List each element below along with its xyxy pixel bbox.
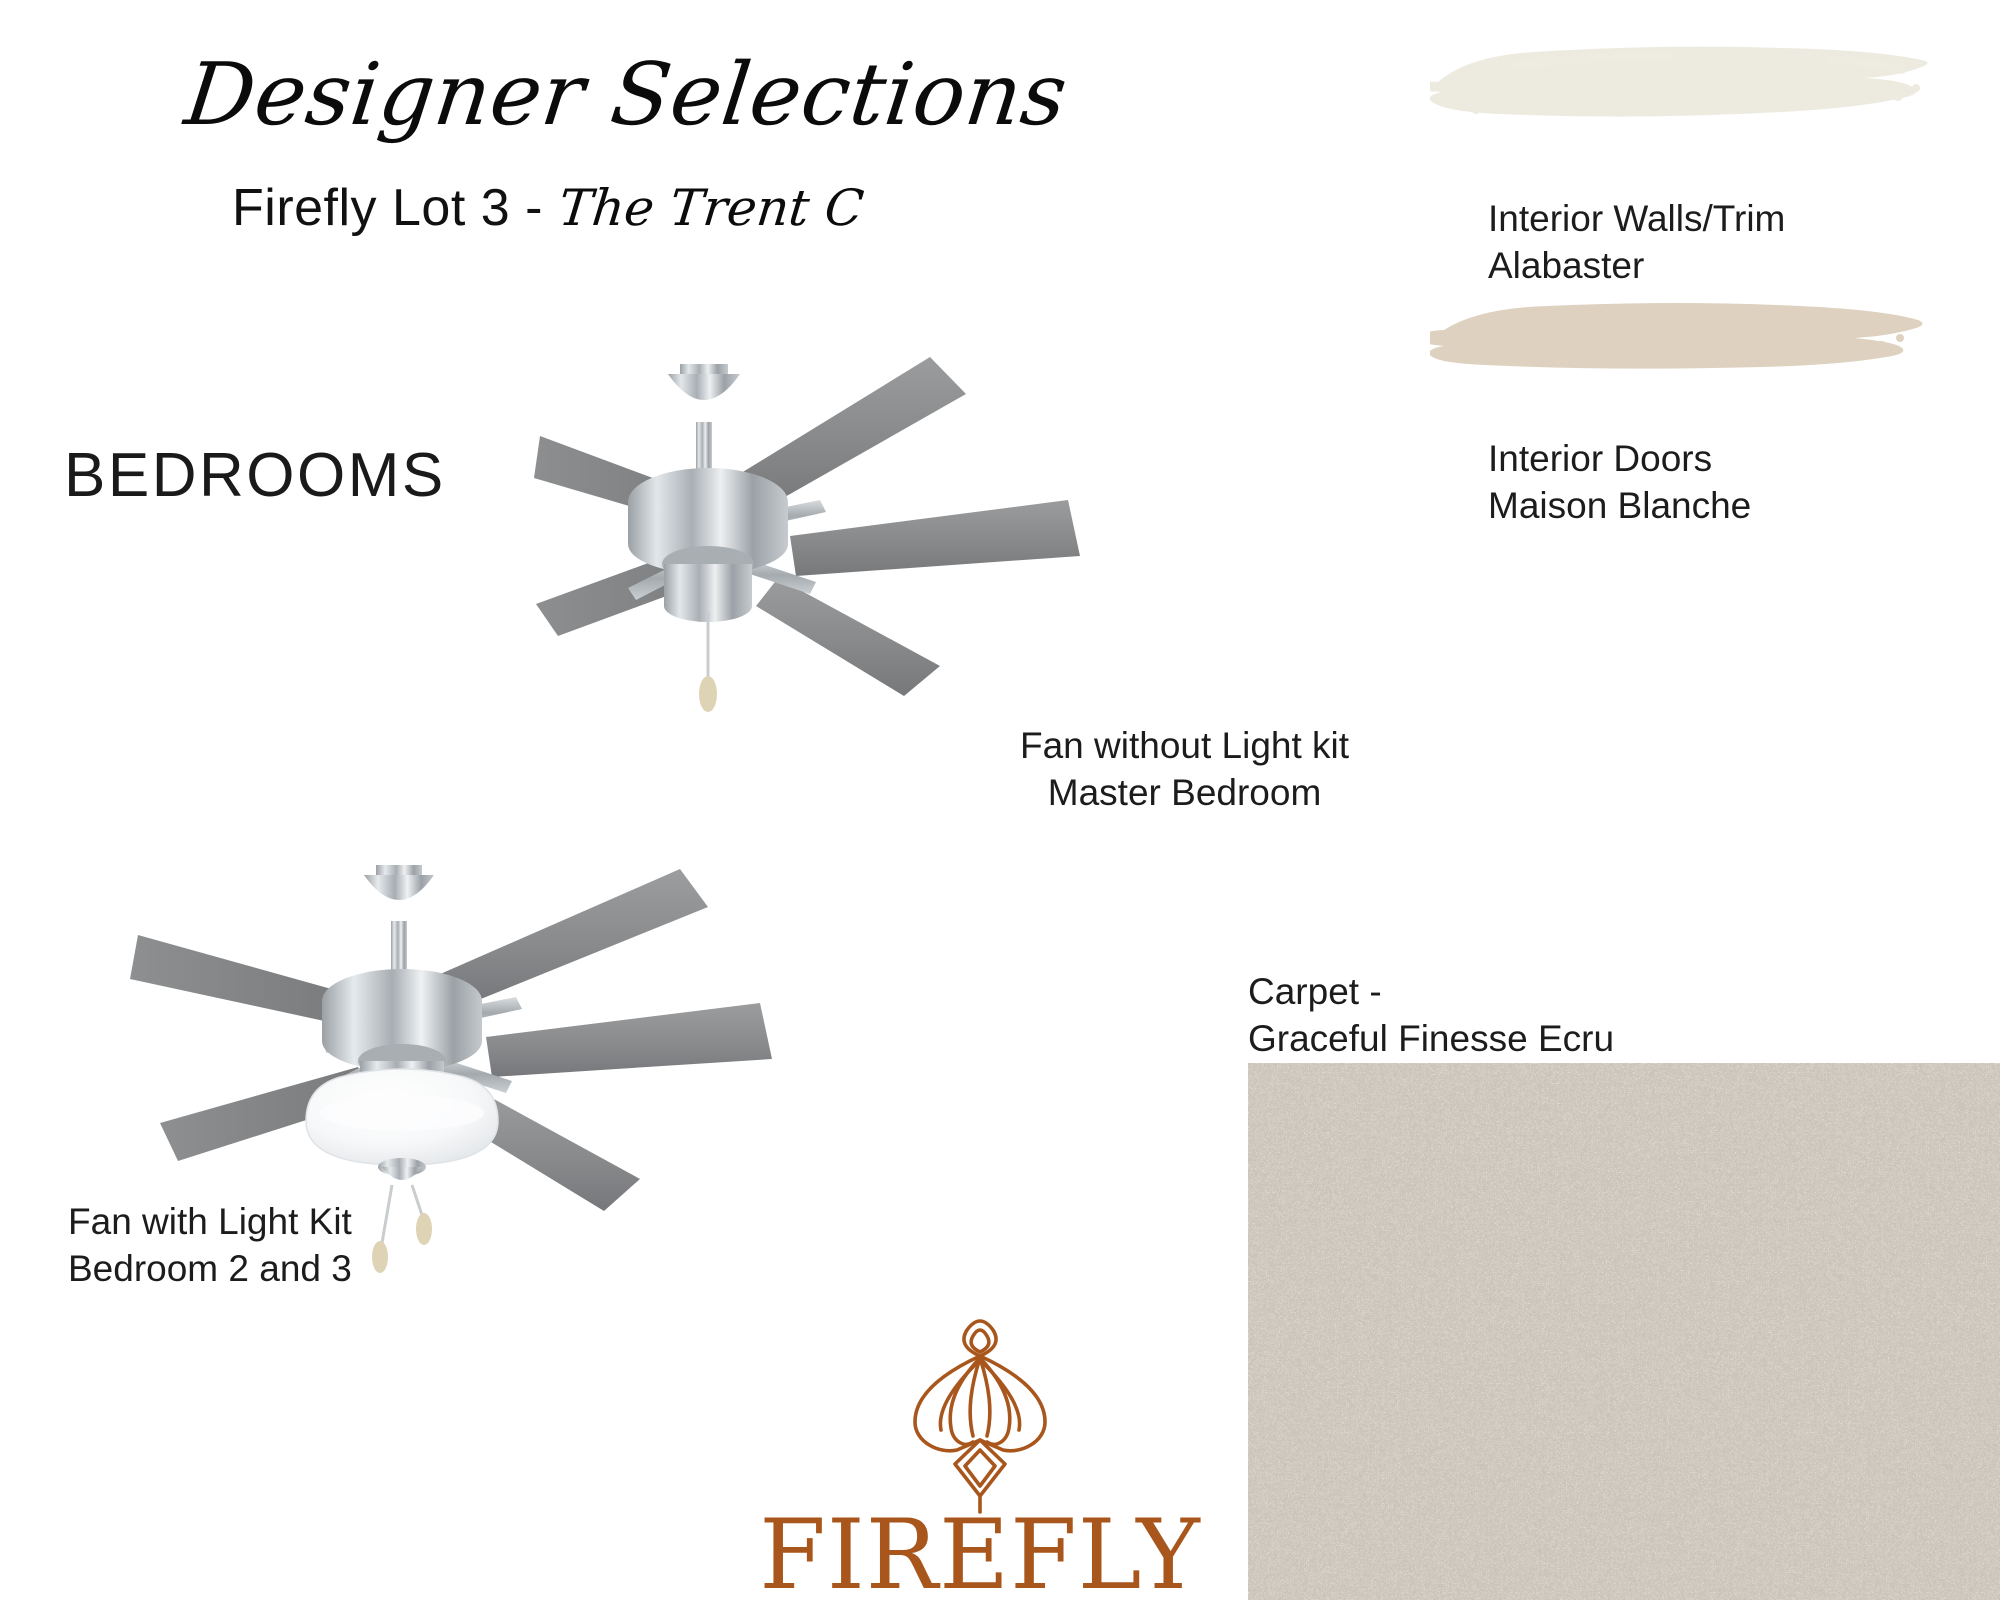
fan-pull-chain <box>699 612 717 712</box>
caption-carpet: Carpet - Graceful Finesse Ecru <box>1248 968 1614 1063</box>
fan-canopy-group <box>668 364 740 478</box>
caption-fan-master: Fan without Light kit Master Bedroom <box>1020 722 1349 817</box>
carpet-sample-image <box>1248 1063 2000 1600</box>
paint-swatch-interior-doors <box>1430 300 1930 395</box>
fan-canopy-group <box>364 865 434 975</box>
ceiling-fan-master-image <box>500 350 1240 750</box>
fan-light-finial <box>378 1158 426 1180</box>
swatch-stroke-walls <box>1430 47 1928 117</box>
page-title: Designer Selections <box>181 52 1072 138</box>
subtitle: Firefly Lot 3 - The Trent C <box>232 178 863 238</box>
paint-swatch-interior-walls-trim <box>1430 40 1930 150</box>
subtitle-lot: Firefly Lot 3 - <box>232 178 543 238</box>
firefly-lantern-icon <box>915 1321 1045 1512</box>
firefly-wordmark: FIREFLY <box>759 1499 1201 1600</box>
firefly-logo: FIREFLY <box>745 1300 1215 1600</box>
fan-blades <box>534 357 1080 696</box>
paint-label-interior-walls-trim: Interior Walls/Trim Alabaster <box>1488 196 1785 289</box>
firefly-wordmark-group: FIREFLY <box>759 1499 1201 1600</box>
fan-light-kit-glass <box>306 1069 498 1165</box>
section-heading-bedrooms: BEDROOMS <box>64 440 446 511</box>
fan-pull-chains <box>372 1185 432 1273</box>
design-selection-board: Designer Selections Firefly Lot 3 - The … <box>0 0 2000 1600</box>
subtitle-plan-name: The Trent C <box>556 179 866 237</box>
caption-fan-light-kit: Fan with Light Kit Bedroom 2 and 3 <box>68 1198 352 1293</box>
paint-label-interior-doors: Interior Doors Maison Blanche <box>1488 436 1751 529</box>
